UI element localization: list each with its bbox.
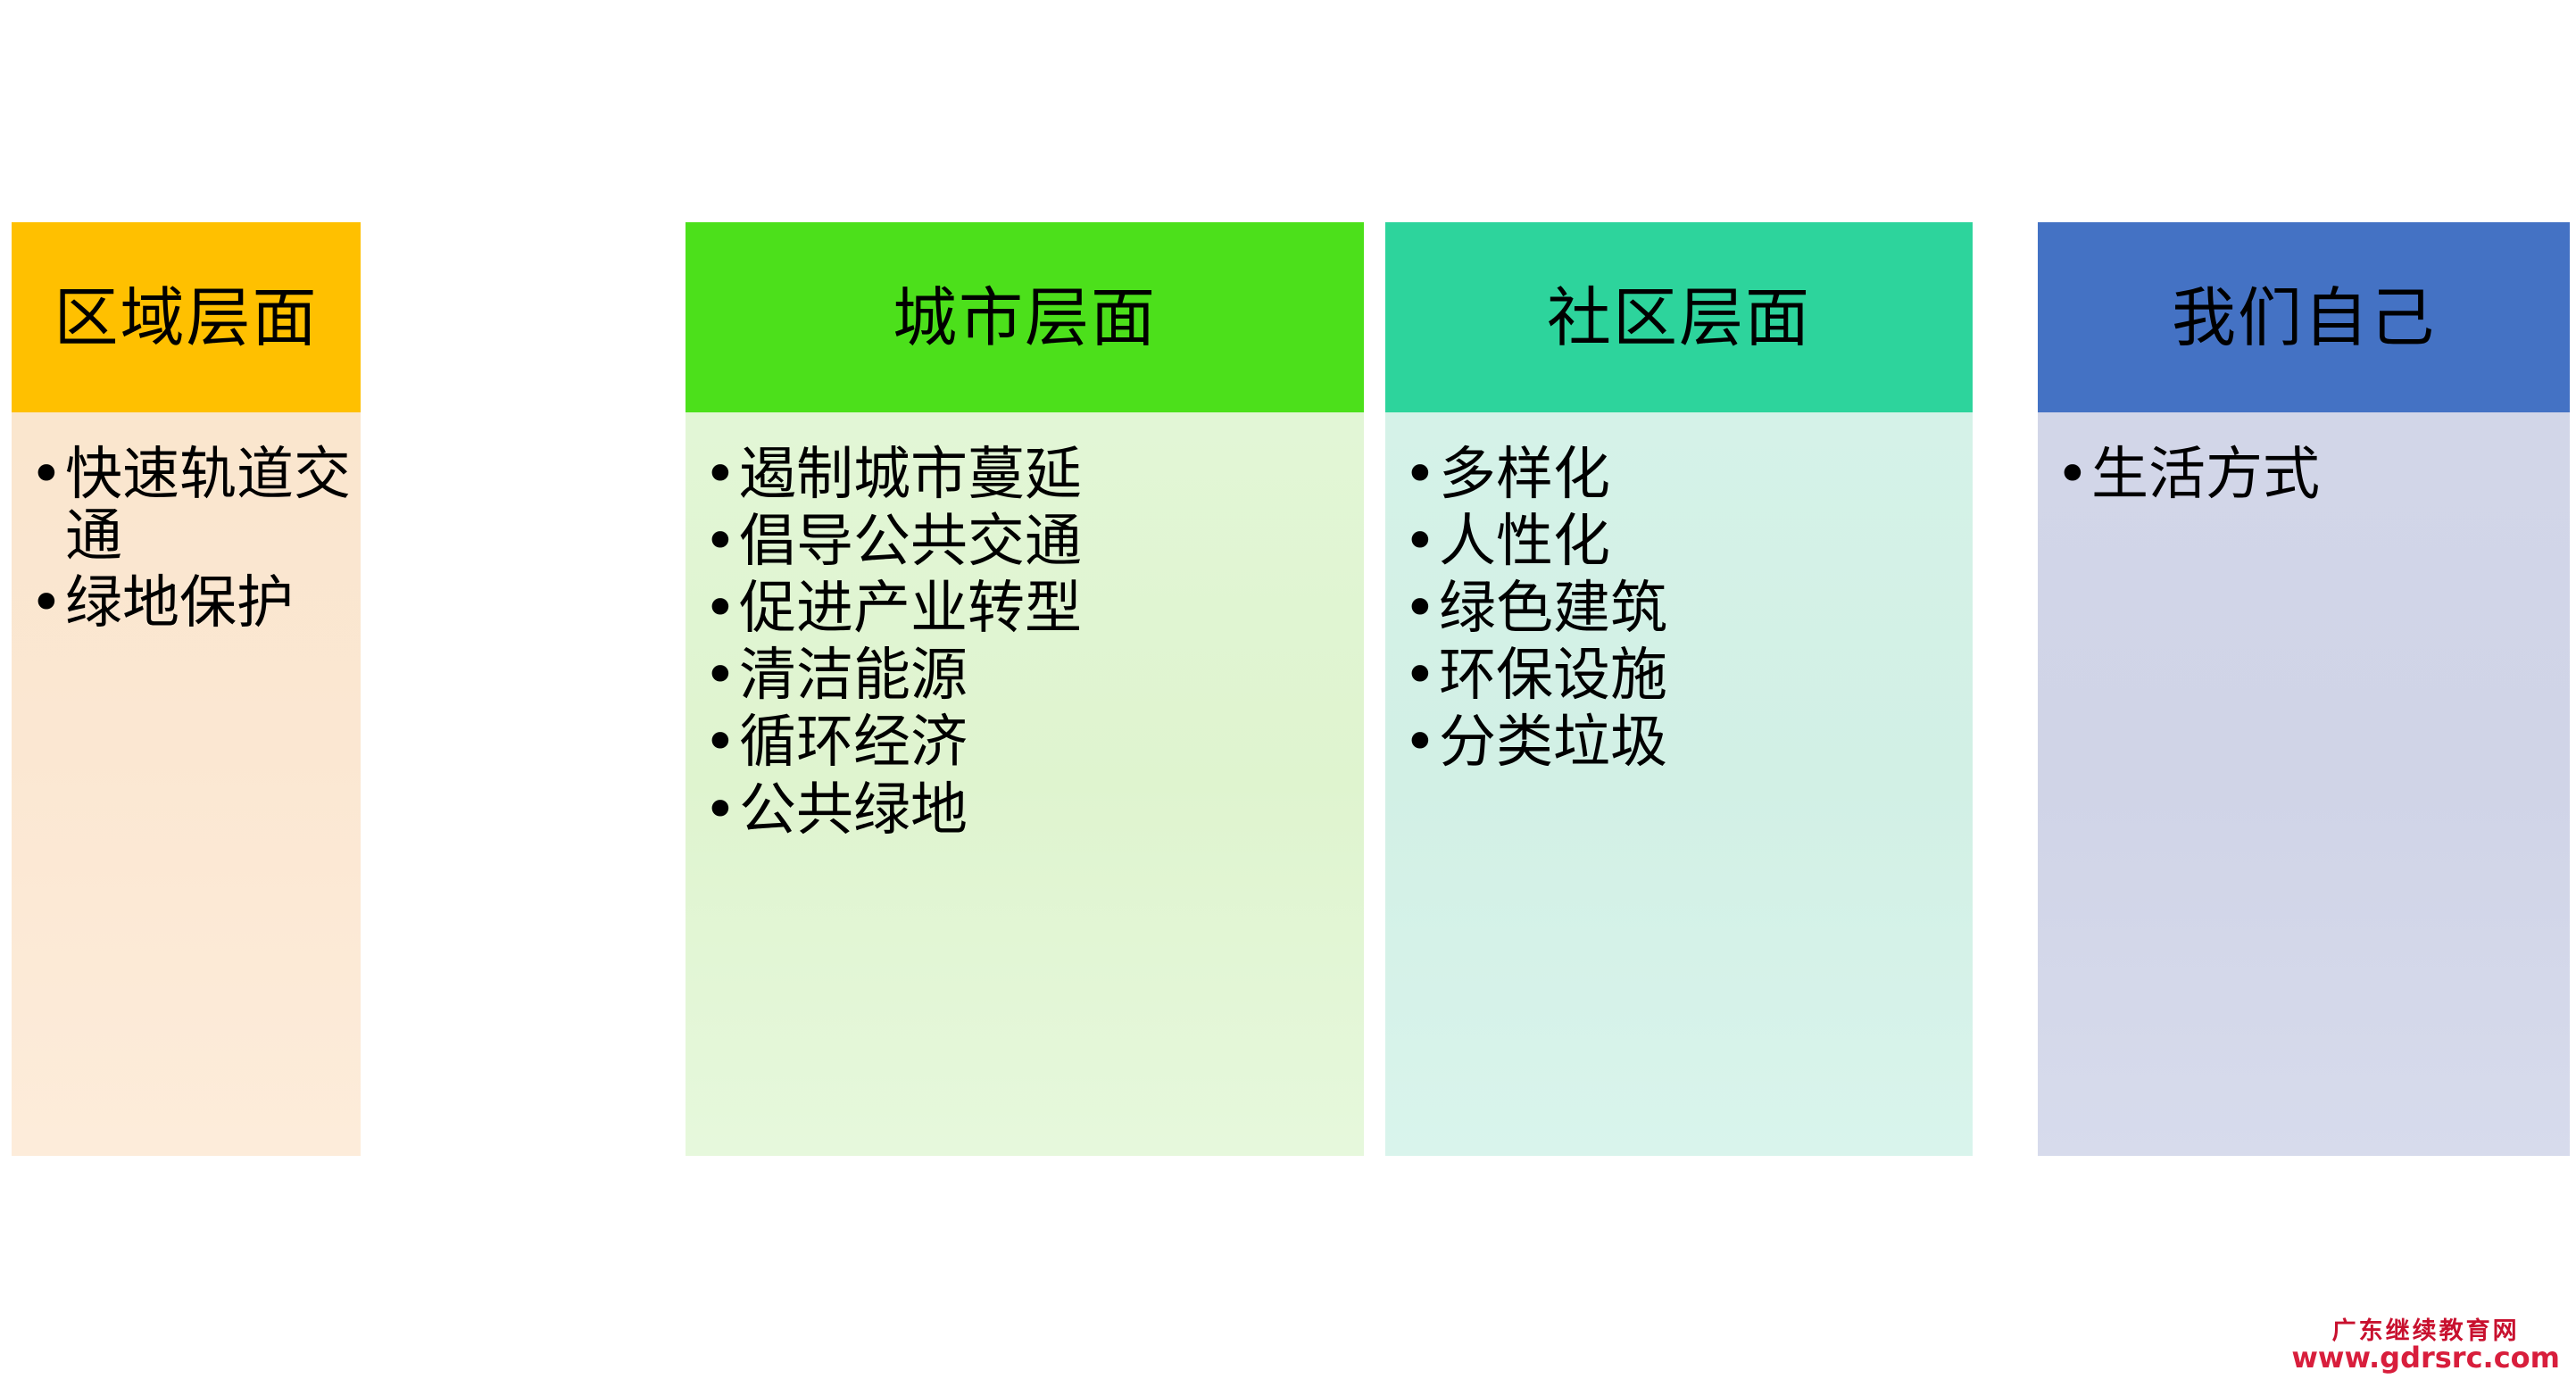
card-city: 城市层面 遏制城市蔓延 倡导公共交通 促进产业转型 清洁能源 循环经济 公共绿地 bbox=[686, 222, 1364, 1156]
list-item: 环保设施 bbox=[1398, 645, 1967, 707]
list-item: 分类垃圾 bbox=[1398, 712, 1967, 774]
list-item: 多样化 bbox=[1398, 444, 1967, 506]
card-ourselves-title: 我们自己 bbox=[2038, 222, 2570, 412]
watermark-url-text: www.gdrsrc.com bbox=[2291, 1343, 2560, 1372]
list-item: 循环经济 bbox=[698, 712, 1359, 774]
list-item: 倡导公共交通 bbox=[698, 511, 1359, 573]
card-city-list: 遏制城市蔓延 倡导公共交通 促进产业转型 清洁能源 循环经济 公共绿地 bbox=[698, 444, 1359, 842]
list-item: 公共绿地 bbox=[698, 780, 1359, 842]
card-community: 社区层面 多样化 人性化 绿色建筑 环保设施 分类垃圾 bbox=[1385, 222, 1973, 1156]
card-community-list: 多样化 人性化 绿色建筑 环保设施 分类垃圾 bbox=[1398, 444, 1967, 775]
card-ourselves-list: 生活方式 bbox=[2050, 444, 2564, 506]
card-ourselves: 我们自己 生活方式 bbox=[2038, 222, 2570, 1156]
card-region-list: 快速轨道交通 绿地保护 bbox=[24, 444, 355, 635]
card-community-title: 社区层面 bbox=[1385, 222, 1973, 412]
list-item: 绿色建筑 bbox=[1398, 578, 1967, 640]
card-community-body: 多样化 人性化 绿色建筑 环保设施 分类垃圾 bbox=[1385, 412, 1973, 1156]
list-item: 遏制城市蔓延 bbox=[698, 444, 1359, 506]
card-ourselves-body: 生活方式 bbox=[2038, 412, 2570, 1156]
list-item: 生活方式 bbox=[2050, 444, 2564, 506]
list-item: 人性化 bbox=[1398, 511, 1967, 573]
watermark: 广东继续教育网 www.gdrsrc.com bbox=[2291, 1319, 2560, 1372]
card-region-title: 区域层面 bbox=[12, 222, 361, 412]
card-city-title: 城市层面 bbox=[686, 222, 1364, 412]
list-item: 绿地保护 bbox=[24, 573, 355, 635]
slide-canvas: 区域层面 快速轨道交通 绿地保护 城市层面 遏制城市蔓延 倡导公共交通 促进产业… bbox=[0, 0, 2576, 1379]
list-item: 清洁能源 bbox=[698, 645, 1359, 707]
card-region-body: 快速轨道交通 绿地保护 bbox=[12, 412, 361, 1156]
list-item: 快速轨道交通 bbox=[24, 444, 355, 568]
watermark-chinese-text: 广东继续教育网 bbox=[2291, 1319, 2560, 1343]
card-city-body: 遏制城市蔓延 倡导公共交通 促进产业转型 清洁能源 循环经济 公共绿地 bbox=[686, 412, 1364, 1156]
card-region: 区域层面 快速轨道交通 绿地保护 bbox=[12, 222, 361, 1156]
list-item: 促进产业转型 bbox=[698, 578, 1359, 640]
